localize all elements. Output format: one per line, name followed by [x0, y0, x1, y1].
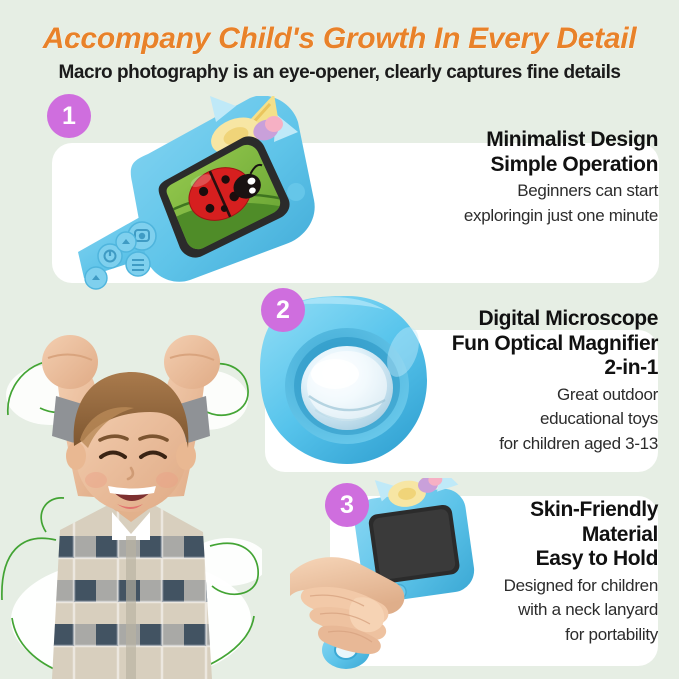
product-image-kids-camera: [60, 96, 315, 291]
product-image-hand-holding-camera: [290, 478, 480, 670]
feature-1-heading-line2: Simple Operation: [358, 153, 658, 178]
page-subtitle: Macro photography is an eye-opener, clea…: [0, 62, 679, 84]
feature-1-body-line2: exploringin just one minute: [358, 205, 658, 226]
feature-badge-3: 3: [325, 483, 369, 527]
header-banner: Accompany Child's Growth In Every Detail…: [0, 0, 679, 92]
feature-1-heading-line1: Minimalist Design: [358, 128, 658, 153]
feature-1-body-line1: Beginners can start: [358, 180, 658, 201]
child-photo: [0, 300, 262, 679]
feature-badge-1: 1: [47, 94, 91, 138]
page-title: Accompany Child's Growth In Every Detail: [0, 22, 679, 56]
feature-badge-2: 2: [261, 288, 305, 332]
feature-text-1: Minimalist Design Simple Operation Begin…: [358, 128, 658, 226]
